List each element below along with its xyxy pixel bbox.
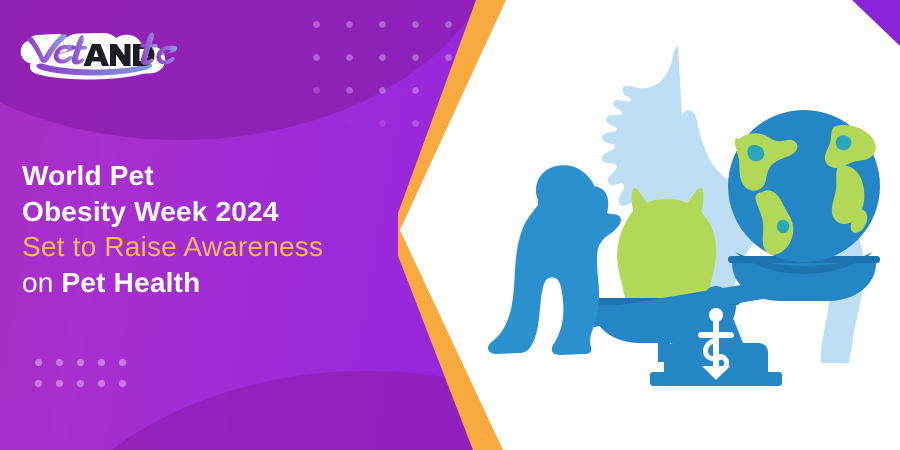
headline-line-2: Obesity Week 2024 — [22, 194, 422, 230]
dot-grid-bottom — [28, 352, 138, 397]
headline-block: World Pet Obesity Week 2024 Set to Raise… — [22, 158, 422, 300]
headline-line-4-bold: Pet Health — [62, 267, 201, 298]
headline-line-3: Set to Raise Awareness — [22, 229, 422, 265]
headline-line-1: World Pet — [22, 158, 422, 194]
pet-obesity-balance-scale — [440, 40, 890, 400]
vetandtech-logo[interactable] — [12, 18, 177, 80]
banner-root: World Pet Obesity Week 2024 Set to Raise… — [0, 0, 900, 450]
headline-line-4-light: on — [22, 267, 62, 298]
headline-line-4: on Pet Health — [22, 265, 422, 301]
logo-svg — [12, 18, 177, 80]
cat-silhouette — [617, 188, 716, 307]
